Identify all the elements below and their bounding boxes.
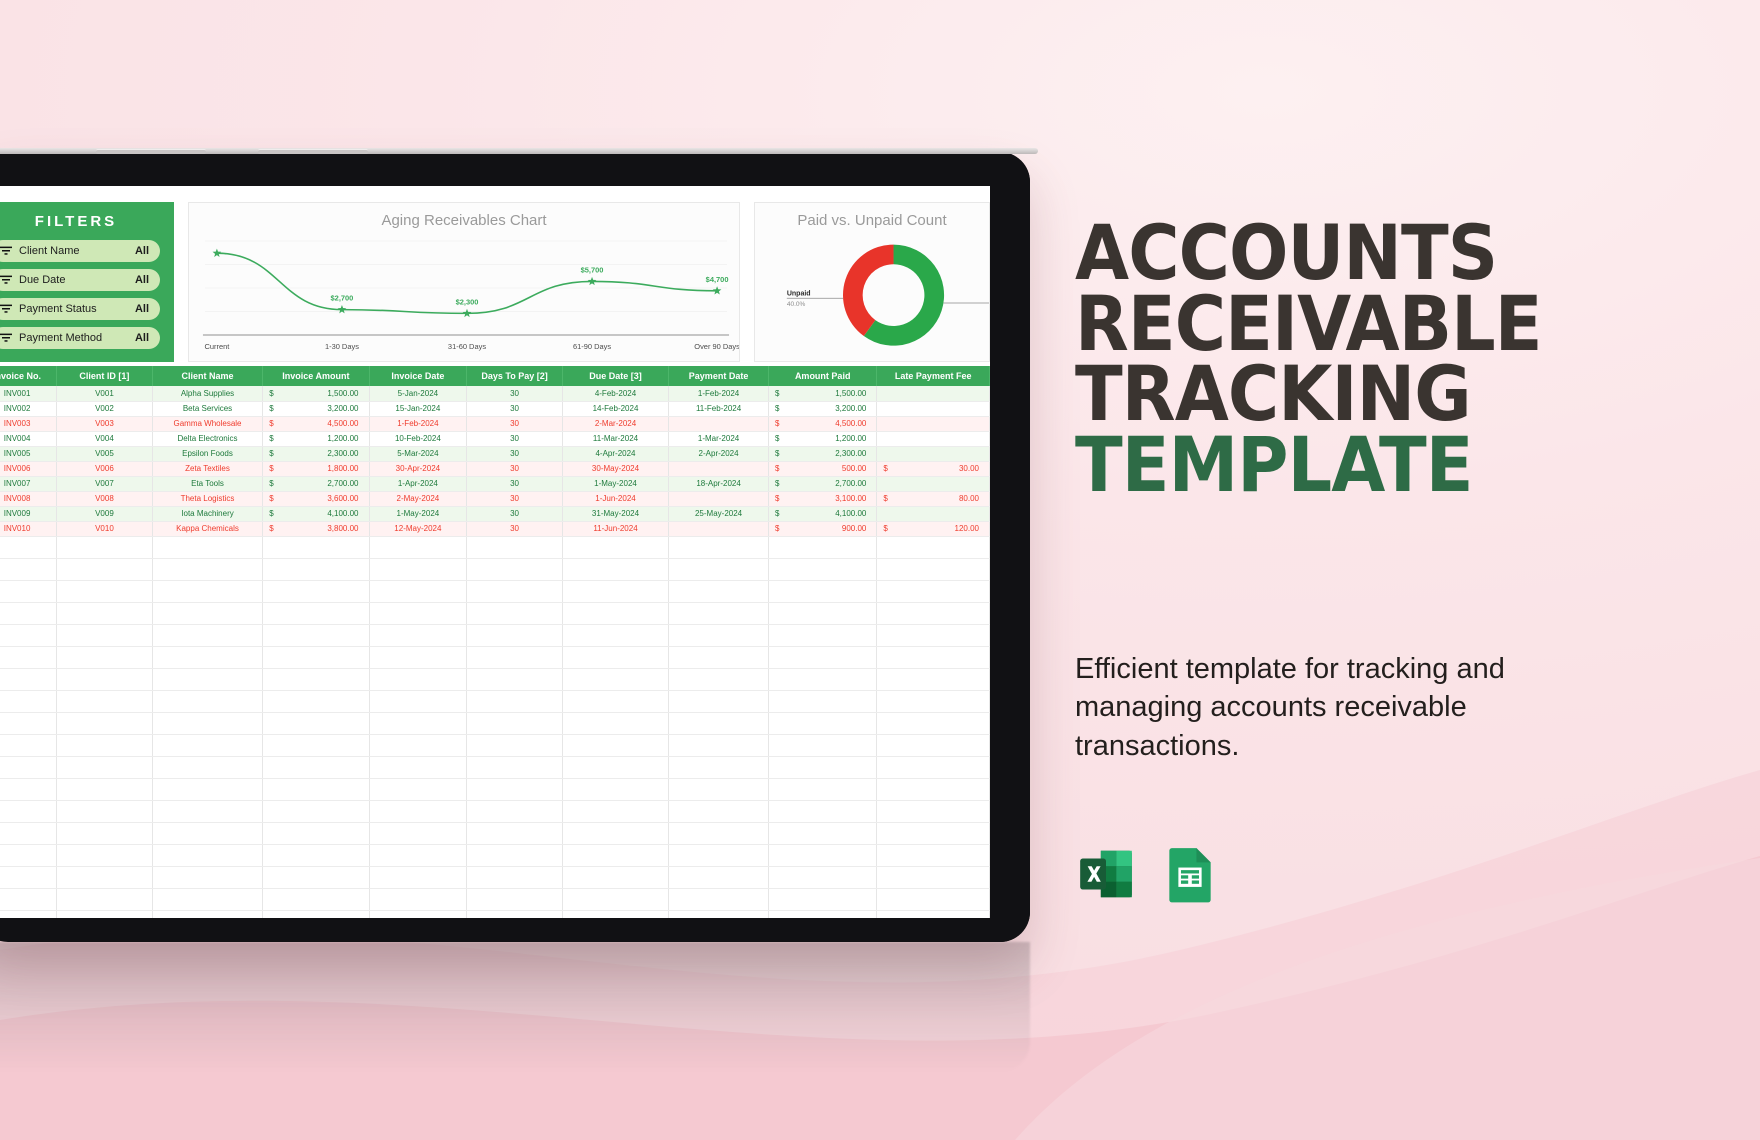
empty-cell[interactable] [769,888,877,910]
cell-amount-paid[interactable]: $1,500.00 [769,386,877,401]
cell-invoice-date[interactable]: 2-May-2024 [369,491,467,506]
cell-invoice-no[interactable]: INV001 [0,386,57,401]
empty-cell[interactable] [152,800,263,822]
cell-invoice-no[interactable]: INV009 [0,506,57,521]
aging-receivables-chart[interactable]: Aging Receivables Chart Current$2,7001-3… [188,202,740,362]
cell-days-to-pay[interactable]: 30 [467,461,563,476]
empty-cell[interactable] [877,800,990,822]
cell-payment-date[interactable]: 1-Mar-2024 [669,431,769,446]
empty-cell[interactable] [562,822,668,844]
cell-late-payment-fee[interactable]: $80.00 [877,491,990,506]
empty-cell[interactable] [152,866,263,888]
cell-days-to-pay[interactable]: 30 [467,491,563,506]
table-empty-row[interactable] [0,668,990,690]
empty-cell[interactable] [152,580,263,602]
empty-cell[interactable] [669,668,769,690]
empty-cell[interactable] [263,712,369,734]
cell-late-payment-fee[interactable] [877,476,990,491]
filter-payment-status[interactable]: Payment Status All [0,298,160,320]
empty-cell[interactable] [369,558,467,580]
empty-cell[interactable] [152,668,263,690]
empty-cell[interactable] [669,624,769,646]
empty-cell[interactable] [467,602,563,624]
empty-cell[interactable] [877,602,990,624]
table-empty-row[interactable] [0,690,990,712]
empty-cell[interactable] [369,624,467,646]
cell-client-name[interactable]: Iota Machinery [152,506,263,521]
empty-cell[interactable] [769,800,877,822]
empty-cell[interactable] [0,734,57,756]
empty-cell[interactable] [562,778,668,800]
filter-client-name[interactable]: Client Name All [0,240,160,262]
cell-payment-date[interactable]: 25-May-2024 [669,506,769,521]
cell-invoice-amount[interactable]: $2,300.00 [263,446,369,461]
cell-invoice-no[interactable]: INV002 [0,401,57,416]
empty-cell[interactable] [369,646,467,668]
empty-cell[interactable] [877,844,990,866]
cell-invoice-date[interactable]: 15-Jan-2024 [369,401,467,416]
cell-amount-paid[interactable]: $900.00 [769,521,877,536]
cell-days-to-pay[interactable]: 30 [467,416,563,431]
column-header-payment-date[interactable]: Payment Date [669,366,769,386]
cell-days-to-pay[interactable]: 30 [467,386,563,401]
empty-cell[interactable] [769,536,877,558]
cell-client-name[interactable]: Theta Logistics [152,491,263,506]
empty-cell[interactable] [877,756,990,778]
empty-cell[interactable] [467,646,563,668]
empty-cell[interactable] [877,888,990,910]
cell-client-id[interactable]: V010 [57,521,153,536]
empty-cell[interactable] [769,712,877,734]
empty-cell[interactable] [562,646,668,668]
empty-cell[interactable] [263,646,369,668]
empty-cell[interactable] [467,668,563,690]
empty-cell[interactable] [152,756,263,778]
empty-cell[interactable] [669,558,769,580]
empty-cell[interactable] [562,602,668,624]
empty-cell[interactable] [0,580,57,602]
empty-cell[interactable] [57,624,153,646]
cell-amount-paid[interactable]: $2,700.00 [769,476,877,491]
table-row[interactable]: INV007V007Eta Tools$2,700.001-Apr-202430… [0,476,990,491]
cell-due-date[interactable]: 11-Mar-2024 [562,431,668,446]
empty-cell[interactable] [263,536,369,558]
cell-client-id[interactable]: V009 [57,506,153,521]
cell-client-id[interactable]: V002 [57,401,153,416]
empty-cell[interactable] [57,646,153,668]
empty-cell[interactable] [562,712,668,734]
cell-amount-paid[interactable]: $3,200.00 [769,401,877,416]
empty-cell[interactable] [57,888,153,910]
empty-cell[interactable] [877,712,990,734]
cell-due-date[interactable]: 2-Mar-2024 [562,416,668,431]
empty-cell[interactable] [562,624,668,646]
empty-cell[interactable] [669,536,769,558]
table-empty-row[interactable] [0,822,990,844]
cell-late-payment-fee[interactable]: $120.00 [877,521,990,536]
empty-cell[interactable] [152,734,263,756]
cell-amount-paid[interactable]: $2,300.00 [769,446,877,461]
empty-cell[interactable] [877,646,990,668]
cell-invoice-amount[interactable]: $1,500.00 [263,386,369,401]
cell-invoice-date[interactable]: 12-May-2024 [369,521,467,536]
table-empty-row[interactable] [0,800,990,822]
table-empty-row[interactable] [0,558,990,580]
column-header-client-id[interactable]: Client ID [1] [57,366,153,386]
table-empty-row[interactable] [0,756,990,778]
empty-cell[interactable] [467,888,563,910]
empty-cell[interactable] [0,844,57,866]
cell-client-id[interactable]: V008 [57,491,153,506]
column-header-invoice-date[interactable]: Invoice Date [369,366,467,386]
cell-due-date[interactable]: 1-May-2024 [562,476,668,491]
volume-down-button[interactable] [258,149,368,154]
empty-cell[interactable] [769,690,877,712]
empty-cell[interactable] [669,888,769,910]
empty-cell[interactable] [877,778,990,800]
empty-cell[interactable] [263,866,369,888]
cell-client-name[interactable]: Delta Electronics [152,431,263,446]
cell-amount-paid[interactable]: $500.00 [769,461,877,476]
table-row[interactable]: INV001V001Alpha Supplies$1,500.005-Jan-2… [0,386,990,401]
empty-cell[interactable] [0,602,57,624]
empty-cell[interactable] [669,866,769,888]
table-empty-row[interactable] [0,866,990,888]
empty-cell[interactable] [152,888,263,910]
empty-cell[interactable] [152,822,263,844]
cell-invoice-date[interactable]: 30-Apr-2024 [369,461,467,476]
cell-due-date[interactable]: 4-Apr-2024 [562,446,668,461]
cell-invoice-amount[interactable]: $3,800.00 [263,521,369,536]
empty-cell[interactable] [669,580,769,602]
cell-payment-date[interactable] [669,521,769,536]
empty-cell[interactable] [57,866,153,888]
cell-days-to-pay[interactable]: 30 [467,506,563,521]
empty-cell[interactable] [0,910,57,918]
empty-cell[interactable] [877,866,990,888]
empty-cell[interactable] [152,778,263,800]
empty-cell[interactable] [0,536,57,558]
empty-cell[interactable] [369,690,467,712]
empty-cell[interactable] [877,668,990,690]
cell-invoice-amount[interactable]: $3,600.00 [263,491,369,506]
table-empty-row[interactable] [0,910,990,918]
empty-cell[interactable] [0,690,57,712]
cell-invoice-no[interactable]: INV010 [0,521,57,536]
empty-cell[interactable] [369,536,467,558]
empty-cell[interactable] [669,712,769,734]
empty-cell[interactable] [467,910,563,918]
cell-invoice-no[interactable]: INV004 [0,431,57,446]
column-header-days-to-pay[interactable]: Days To Pay [2] [467,366,563,386]
empty-cell[interactable] [152,602,263,624]
empty-cell[interactable] [369,910,467,918]
empty-cell[interactable] [369,712,467,734]
empty-cell[interactable] [0,888,57,910]
empty-cell[interactable] [263,624,369,646]
empty-cell[interactable] [263,690,369,712]
column-header-invoice-no[interactable]: Invoice No. [0,366,57,386]
empty-cell[interactable] [57,756,153,778]
column-header-client-name[interactable]: Client Name [152,366,263,386]
table-row[interactable]: INV008V008Theta Logistics$3,600.002-May-… [0,491,990,506]
table-empty-row[interactable] [0,580,990,602]
cell-late-payment-fee[interactable] [877,446,990,461]
empty-cell[interactable] [769,558,877,580]
cell-late-payment-fee[interactable] [877,401,990,416]
cell-invoice-amount[interactable]: $2,700.00 [263,476,369,491]
cell-due-date[interactable]: 1-Jun-2024 [562,491,668,506]
empty-cell[interactable] [877,558,990,580]
empty-cell[interactable] [369,822,467,844]
column-header-late-payment-fee[interactable]: Late Payment Fee [877,366,990,386]
table-empty-row[interactable] [0,536,990,558]
cell-invoice-no[interactable]: INV008 [0,491,57,506]
cell-due-date[interactable]: 14-Feb-2024 [562,401,668,416]
empty-cell[interactable] [877,536,990,558]
cell-client-id[interactable]: V001 [57,386,153,401]
cell-days-to-pay[interactable]: 30 [467,521,563,536]
empty-cell[interactable] [467,866,563,888]
cell-due-date[interactable]: 11-Jun-2024 [562,521,668,536]
table-empty-row[interactable] [0,646,990,668]
empty-cell[interactable] [263,580,369,602]
cell-invoice-date[interactable]: 1-Apr-2024 [369,476,467,491]
empty-cell[interactable] [369,844,467,866]
cell-payment-date[interactable] [669,461,769,476]
empty-cell[interactable] [152,536,263,558]
empty-cell[interactable] [467,778,563,800]
empty-cell[interactable] [669,646,769,668]
google-sheets-icon[interactable] [1159,843,1221,905]
cell-payment-date[interactable] [669,416,769,431]
cell-late-payment-fee[interactable] [877,386,990,401]
empty-cell[interactable] [877,734,990,756]
column-header-amount-paid[interactable]: Amount Paid [769,366,877,386]
empty-cell[interactable] [669,800,769,822]
empty-cell[interactable] [467,712,563,734]
cell-invoice-amount[interactable]: $1,200.00 [263,431,369,446]
empty-cell[interactable] [562,756,668,778]
cell-invoice-date[interactable]: 5-Jan-2024 [369,386,467,401]
cell-payment-date[interactable]: 1-Feb-2024 [669,386,769,401]
invoices-table-wrapper[interactable]: Invoice No. Client ID [1] Client Name In… [0,366,990,918]
table-row[interactable]: INV004V004Delta Electronics$1,200.0010-F… [0,431,990,446]
cell-invoice-no[interactable]: INV007 [0,476,57,491]
empty-cell[interactable] [57,690,153,712]
volume-up-button[interactable] [96,149,206,154]
cell-client-name[interactable]: Kappa Chemicals [152,521,263,536]
empty-cell[interactable] [562,866,668,888]
column-header-due-date[interactable]: Due Date [3] [562,366,668,386]
empty-cell[interactable] [669,844,769,866]
column-header-invoice-amount[interactable]: Invoice Amount [263,366,369,386]
empty-cell[interactable] [467,536,563,558]
empty-cell[interactable] [0,866,57,888]
empty-cell[interactable] [263,734,369,756]
empty-cell[interactable] [57,910,153,918]
empty-cell[interactable] [562,580,668,602]
cell-days-to-pay[interactable]: 30 [467,431,563,446]
empty-cell[interactable] [263,602,369,624]
cell-client-name[interactable]: Epsilon Foods [152,446,263,461]
empty-cell[interactable] [877,690,990,712]
cell-client-name[interactable]: Beta Services [152,401,263,416]
table-row[interactable]: INV009V009Iota Machinery$4,100.001-May-2… [0,506,990,521]
empty-cell[interactable] [467,756,563,778]
cell-invoice-no[interactable]: INV006 [0,461,57,476]
paid-vs-unpaid-chart[interactable]: Paid vs. Unpaid Count Unpaid40.0% [754,202,990,362]
empty-cell[interactable] [263,888,369,910]
empty-cell[interactable] [769,822,877,844]
empty-cell[interactable] [467,558,563,580]
cell-days-to-pay[interactable]: 30 [467,476,563,491]
empty-cell[interactable] [0,822,57,844]
empty-cell[interactable] [263,558,369,580]
empty-cell[interactable] [769,756,877,778]
table-empty-row[interactable] [0,888,990,910]
table-empty-row[interactable] [0,624,990,646]
table-empty-row[interactable] [0,602,990,624]
empty-cell[interactable] [369,888,467,910]
empty-cell[interactable] [769,844,877,866]
empty-cell[interactable] [769,734,877,756]
empty-cell[interactable] [0,778,57,800]
empty-cell[interactable] [467,690,563,712]
empty-cell[interactable] [369,668,467,690]
empty-cell[interactable] [0,800,57,822]
empty-cell[interactable] [467,800,563,822]
empty-cell[interactable] [467,844,563,866]
empty-cell[interactable] [769,778,877,800]
empty-cell[interactable] [562,888,668,910]
table-row[interactable]: INV002V002Beta Services$3,200.0015-Jan-2… [0,401,990,416]
table-empty-row[interactable] [0,778,990,800]
empty-cell[interactable] [669,778,769,800]
empty-cell[interactable] [57,602,153,624]
empty-cell[interactable] [562,536,668,558]
cell-invoice-amount[interactable]: $3,200.00 [263,401,369,416]
empty-cell[interactable] [369,580,467,602]
empty-cell[interactable] [669,910,769,918]
empty-cell[interactable] [669,690,769,712]
empty-cell[interactable] [57,536,153,558]
cell-invoice-date[interactable]: 1-May-2024 [369,506,467,521]
empty-cell[interactable] [263,844,369,866]
cell-invoice-no[interactable]: INV005 [0,446,57,461]
cell-client-id[interactable]: V005 [57,446,153,461]
cell-payment-date[interactable]: 2-Apr-2024 [669,446,769,461]
cell-late-payment-fee[interactable] [877,416,990,431]
cell-client-name[interactable]: Gamma Wholesale [152,416,263,431]
empty-cell[interactable] [57,712,153,734]
empty-cell[interactable] [57,558,153,580]
empty-cell[interactable] [263,800,369,822]
empty-cell[interactable] [0,558,57,580]
empty-cell[interactable] [0,646,57,668]
empty-cell[interactable] [562,690,668,712]
empty-cell[interactable] [669,734,769,756]
filter-due-date[interactable]: Due Date All [0,269,160,291]
empty-cell[interactable] [769,668,877,690]
empty-cell[interactable] [369,800,467,822]
cell-amount-paid[interactable]: $4,100.00 [769,506,877,521]
cell-amount-paid[interactable]: $3,100.00 [769,491,877,506]
empty-cell[interactable] [669,602,769,624]
cell-client-name[interactable]: Eta Tools [152,476,263,491]
empty-cell[interactable] [57,800,153,822]
empty-cell[interactable] [369,778,467,800]
empty-cell[interactable] [57,734,153,756]
empty-cell[interactable] [0,712,57,734]
empty-cell[interactable] [152,690,263,712]
empty-cell[interactable] [57,668,153,690]
empty-cell[interactable] [769,866,877,888]
cell-invoice-amount[interactable]: $4,500.00 [263,416,369,431]
empty-cell[interactable] [769,646,877,668]
table-empty-row[interactable] [0,844,990,866]
empty-cell[interactable] [562,910,668,918]
empty-cell[interactable] [467,580,563,602]
empty-cell[interactable] [877,580,990,602]
empty-cell[interactable] [769,624,877,646]
empty-cell[interactable] [0,756,57,778]
cell-due-date[interactable]: 30-May-2024 [562,461,668,476]
empty-cell[interactable] [562,558,668,580]
empty-cell[interactable] [562,734,668,756]
empty-cell[interactable] [369,734,467,756]
cell-payment-date[interactable]: 18-Apr-2024 [669,476,769,491]
excel-icon[interactable] [1075,843,1137,905]
empty-cell[interactable] [769,580,877,602]
cell-invoice-amount[interactable]: $1,800.00 [263,461,369,476]
empty-cell[interactable] [669,822,769,844]
cell-payment-date[interactable] [669,491,769,506]
empty-cell[interactable] [57,822,153,844]
cell-due-date[interactable]: 31-May-2024 [562,506,668,521]
cell-client-id[interactable]: V007 [57,476,153,491]
empty-cell[interactable] [152,646,263,668]
cell-payment-date[interactable]: 11-Feb-2024 [669,401,769,416]
cell-client-name[interactable]: Zeta Textiles [152,461,263,476]
cell-days-to-pay[interactable]: 30 [467,446,563,461]
empty-cell[interactable] [562,800,668,822]
empty-cell[interactable] [769,602,877,624]
empty-cell[interactable] [0,668,57,690]
empty-cell[interactable] [152,624,263,646]
empty-cell[interactable] [467,734,563,756]
empty-cell[interactable] [877,624,990,646]
empty-cell[interactable] [562,844,668,866]
filter-payment-method[interactable]: Payment Method All [0,327,160,349]
empty-cell[interactable] [877,910,990,918]
empty-cell[interactable] [263,822,369,844]
empty-cell[interactable] [152,844,263,866]
empty-cell[interactable] [769,910,877,918]
empty-cell[interactable] [669,756,769,778]
table-row[interactable]: INV003V003Gamma Wholesale$4,500.001-Feb-… [0,416,990,431]
cell-invoice-date[interactable]: 5-Mar-2024 [369,446,467,461]
table-row[interactable]: INV005V005Epsilon Foods$2,300.005-Mar-20… [0,446,990,461]
empty-cell[interactable] [369,602,467,624]
table-empty-row[interactable] [0,712,990,734]
empty-cell[interactable] [57,778,153,800]
cell-client-id[interactable]: V006 [57,461,153,476]
empty-cell[interactable] [263,668,369,690]
cell-client-name[interactable]: Alpha Supplies [152,386,263,401]
cell-invoice-amount[interactable]: $4,100.00 [263,506,369,521]
cell-late-payment-fee[interactable] [877,506,990,521]
